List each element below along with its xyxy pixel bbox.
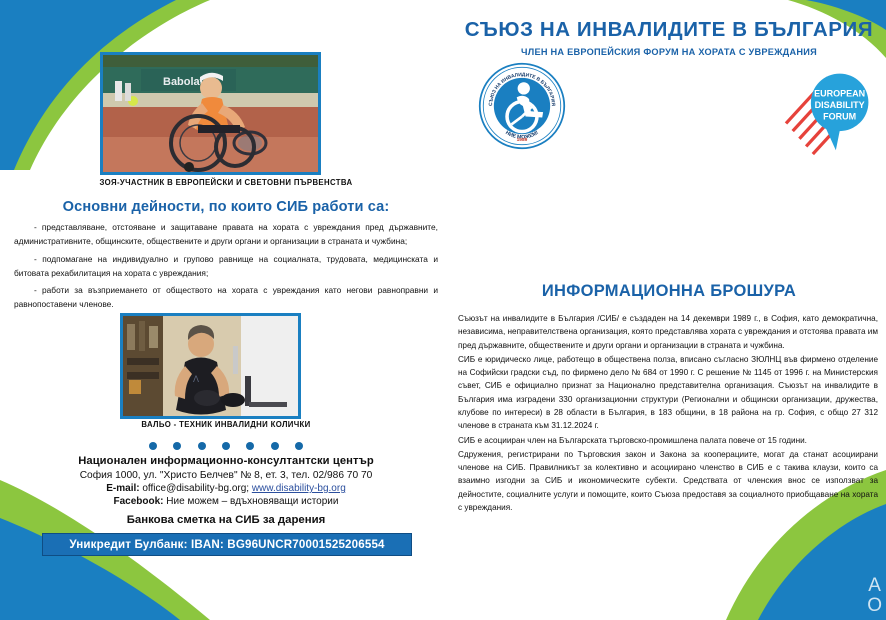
activities-heading: Основни дейности, по които СИБ работи са…: [0, 199, 452, 215]
edf-logo-icon: EUROPEAN DISABILITY FORUM: [784, 64, 880, 156]
brochure-body: Съюзът на инвалидите в България /СИБ/ е …: [458, 312, 878, 515]
svg-text:EUROPEAN: EUROPEAN: [814, 89, 865, 99]
photo-wheelchair-tennis: Babolat: [100, 52, 321, 175]
brochure-header: СЪЮЗ НА ИНВАЛИДИТЕ В БЪЛГАРИЯ ЧЛЕН НА ЕВ…: [452, 18, 886, 57]
brochure-page: А О Babolat: [0, 0, 886, 620]
page-title: СЪЮЗ НА ИНВАЛИДИТЕ В БЪЛГАРИЯ: [452, 18, 886, 42]
bank-heading: Банкова сметка на СИБ за дарения: [0, 514, 452, 526]
brochure-paragraph: Съюзът на инвалидите в България /СИБ/ е …: [458, 312, 878, 352]
brochure-paragraph: Сдружения, регистрирани по Търговския за…: [458, 448, 878, 514]
svg-text:Λ: Λ: [193, 374, 199, 384]
iban-bar: Уникредит Булбанк: IBAN: BG96UNCR7000152…: [42, 533, 412, 556]
dot: [222, 442, 230, 450]
email-value: office@disability-bg.org;: [142, 483, 249, 494]
facebook-label: Facebook:: [114, 496, 164, 507]
dot: [173, 442, 181, 450]
email-label: E-mail:: [106, 483, 139, 494]
dot: [271, 442, 279, 450]
facebook-value: Ние можем – вдъхновяващи истории: [166, 496, 338, 507]
brochure-paragraph: СИБ е юридическо лице, работещо в общест…: [458, 353, 878, 433]
dot: [246, 442, 254, 450]
caption-tennis: ЗОЯ-УЧАСТНИК В ЕВРОПЕЙСКИ И СВЕТОВНИ ПЪР…: [0, 178, 452, 187]
activities-list: - представляване, отстояване и защитаван…: [14, 221, 438, 316]
svg-text:DISABILITY: DISABILITY: [815, 100, 865, 110]
activity-item: - представляване, отстояване и защитаван…: [14, 221, 438, 249]
contact-block: Национален информационно-консултантски ц…: [0, 455, 452, 526]
page-subtitle: ЧЛЕН НА ЕВРОПЕЙСКИЯ ФОРУМ НА ХОРАТА С УВ…: [452, 47, 886, 57]
photo-wheelchair-technician: Λ: [120, 313, 301, 419]
svg-text:1989: 1989: [517, 137, 528, 143]
contact-email-line: E-mail: office@disability-bg.org; www.di…: [0, 483, 452, 494]
svg-text:FORUM: FORUM: [823, 112, 856, 122]
activity-item: - работи за възприемането от обществото …: [14, 284, 438, 312]
sib-logo-icon: СЪЮЗ НА ИНВАЛИДИТЕ В БЪЛГАРИЯ НИЕ МОЖЕМ!…: [478, 62, 566, 150]
left-column: Babolat: [0, 0, 452, 620]
svg-text:Babolat: Babolat: [163, 76, 204, 88]
contact-address: София 1000, ул. "Христо Белчев" № 8, ет.…: [0, 470, 452, 481]
activity-item: - подпомагане на индивидуално и групово …: [14, 253, 438, 281]
brochure-title: ИНФОРМАЦИОННА БРОШУРА: [452, 282, 886, 301]
brochure-paragraph: СИБ е асоцииран член на Българската търг…: [458, 434, 878, 447]
website-link[interactable]: www.disability-bg.org: [252, 483, 346, 494]
contact-center-name: Национален информационно-консултантски ц…: [0, 455, 452, 467]
caption-valyo: ВАЛЬО - ТЕХНИК ИНВАЛИДНИ КОЛИЧКИ: [0, 420, 452, 429]
contact-facebook-line: Facebook: Ние можем – вдъхновяващи истор…: [0, 496, 452, 507]
dot: [295, 442, 303, 450]
right-column: СЪЮЗ НА ИНВАЛИДИТЕ В БЪЛГАРИЯ ЧЛЕН НА ЕВ…: [452, 0, 886, 620]
dot: [149, 442, 157, 450]
dot: [198, 442, 206, 450]
dot-separator: [0, 437, 452, 455]
